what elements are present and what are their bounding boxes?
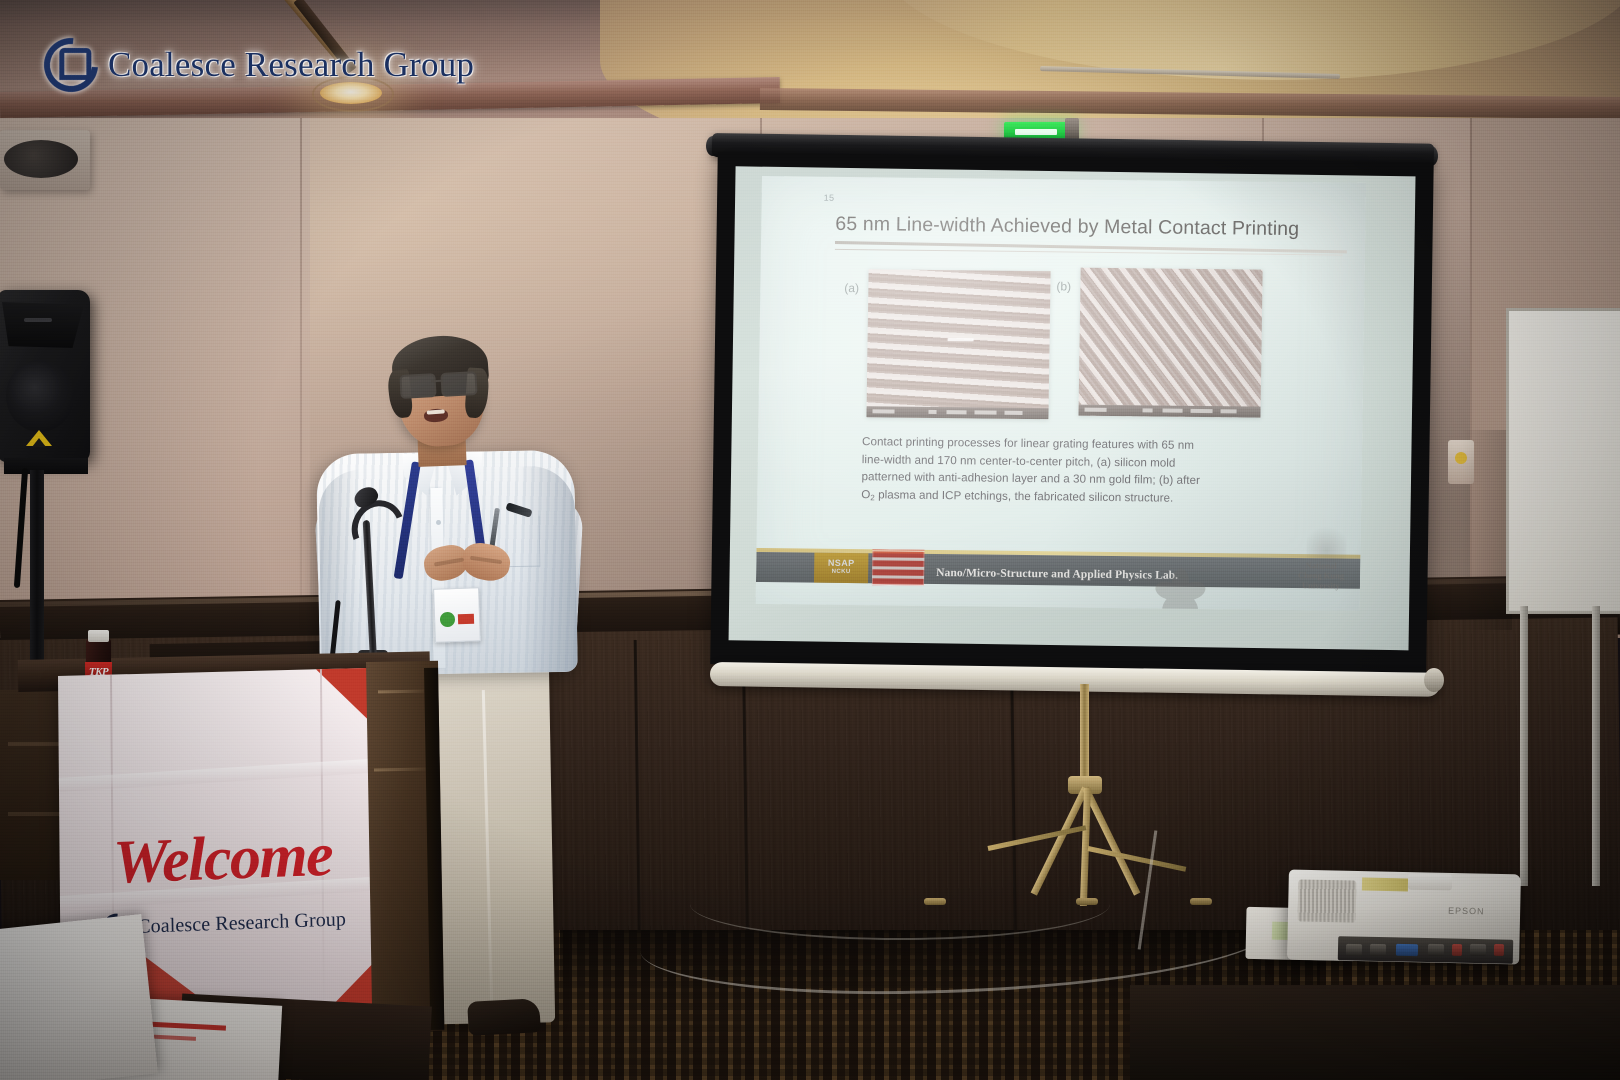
slide-title: 65 nm Line-width Achieved by Metal Conta… bbox=[835, 213, 1355, 242]
whiteboard-leg bbox=[1592, 606, 1600, 886]
banner-fabric-wave bbox=[58, 756, 383, 793]
wall-seam bbox=[300, 118, 302, 638]
sem-image-b bbox=[1078, 268, 1262, 418]
pa-speaker-horn-slot bbox=[24, 318, 52, 322]
whiteboard-shadow bbox=[1462, 430, 1512, 630]
lab-seal-icon bbox=[872, 549, 925, 586]
projector-port-vga[interactable] bbox=[1396, 944, 1418, 956]
sem-b-info-bar bbox=[1078, 405, 1260, 418]
nsap-badge-text: NSAPNCKU bbox=[828, 559, 855, 577]
projector-port-audio-left[interactable] bbox=[1494, 944, 1504, 956]
projector-port-audio-right[interactable] bbox=[1452, 944, 1462, 956]
sem-a-scale-marker bbox=[948, 338, 974, 341]
projector-brand-text: EPSON bbox=[1448, 906, 1485, 917]
back-desk-edge bbox=[8, 742, 60, 746]
nsap-badge-sub-text: NCKU bbox=[828, 568, 855, 577]
cr-monogram-icon bbox=[33, 27, 109, 103]
exit-sign-mount bbox=[1065, 118, 1079, 140]
sem-a-info-bar bbox=[866, 406, 1048, 419]
screen-tripod-post bbox=[1080, 684, 1089, 789]
university-line-2: Cheng Kung bbox=[1298, 570, 1344, 581]
conference-presentation-photo: 15 65 nm Line-width Achieved by Metal Co… bbox=[0, 0, 1620, 1080]
projector-vent-grille bbox=[1298, 879, 1357, 922]
screen-roller-end-cap bbox=[1424, 668, 1444, 692]
university-line-1: National bbox=[1298, 560, 1344, 571]
projector-port-hdmi[interactable] bbox=[1370, 944, 1386, 956]
triangle-logo-inner-icon bbox=[32, 438, 46, 447]
university-line-3: University bbox=[1298, 580, 1344, 591]
watermark: Coalesce Research Group bbox=[44, 38, 474, 92]
sem-b-texture bbox=[1078, 268, 1262, 418]
floor-cable-secondary bbox=[690, 868, 1110, 940]
presenter-shoe bbox=[467, 998, 541, 1036]
slide-caption: Contact printing processes for linear gr… bbox=[861, 433, 1292, 511]
watermark-text: Coalesce Research Group bbox=[108, 45, 474, 85]
slide-number: 15 bbox=[824, 193, 835, 203]
panel-label-b: (b) bbox=[1056, 279, 1071, 293]
sem-a-texture bbox=[866, 269, 1050, 419]
pa-speaker-horn-icon bbox=[2, 302, 84, 348]
projector-port-panel bbox=[1338, 936, 1513, 964]
eyeglasses-lens-right-icon bbox=[440, 371, 477, 397]
projected-slide: 15 65 nm Line-width Achieved by Metal Co… bbox=[756, 176, 1366, 611]
banner-welcome-text: Welcome bbox=[87, 823, 358, 895]
presenter-shirt-shadow-right bbox=[518, 466, 578, 673]
caption-o2-symbol: O bbox=[861, 488, 870, 501]
speaker-tripod-stand bbox=[30, 470, 44, 660]
back-desk-edge bbox=[8, 812, 60, 816]
pa-speaker-woofer-icon bbox=[6, 360, 74, 432]
wall-speaker-cone-icon bbox=[4, 140, 78, 178]
presenter-teeth bbox=[427, 409, 445, 414]
sem-image-a bbox=[866, 269, 1050, 419]
projector-port-serial[interactable] bbox=[1470, 944, 1486, 956]
projector-port-usb[interactable] bbox=[1346, 944, 1362, 956]
badge-logo-red-icon bbox=[458, 614, 474, 625]
bottle-cap bbox=[88, 630, 109, 642]
projector-lamp-lid bbox=[1408, 874, 1452, 891]
foreground-paper-sheet bbox=[0, 914, 158, 1080]
projector-port-lan[interactable] bbox=[1428, 944, 1444, 956]
nsap-logo-badge: NSAPNCKU bbox=[814, 553, 868, 584]
pa-speaker-base bbox=[4, 458, 88, 474]
shirt-button bbox=[436, 520, 441, 525]
caption-line-4: O2 plasma and ICP etchings, the fabricat… bbox=[861, 486, 1291, 511]
university-name-text: National Cheng Kung University bbox=[1298, 560, 1345, 591]
projector-table bbox=[1130, 985, 1620, 1080]
university-crest-icon bbox=[1306, 522, 1347, 562]
whiteboard-leg bbox=[1520, 606, 1528, 886]
caption-line-4-rest: plasma and ICP etchings, the fabricated … bbox=[875, 488, 1174, 504]
eyeglasses-lens-left-icon bbox=[399, 373, 436, 399]
flipchart-whiteboard bbox=[1506, 308, 1620, 614]
banner-org-text: Coalesce Research Group bbox=[137, 908, 346, 939]
plum-blossom-icon bbox=[1154, 550, 1207, 603]
exit-sign-glyph-icon bbox=[1015, 129, 1057, 135]
panel-label-a: (a) bbox=[844, 281, 859, 295]
projector-warning-label bbox=[1362, 878, 1408, 892]
